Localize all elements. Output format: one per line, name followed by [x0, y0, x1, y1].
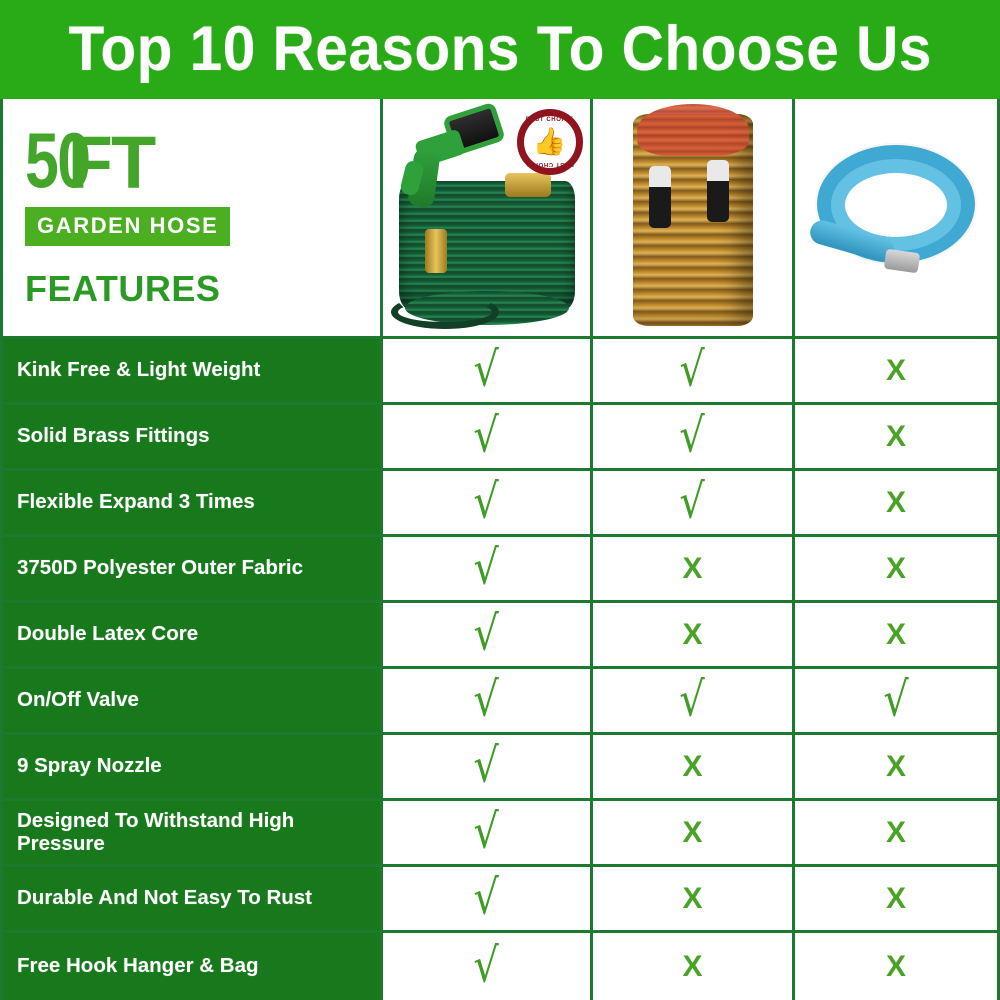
brown-expandable-hose-image — [633, 108, 753, 328]
check-icon: √ — [680, 411, 705, 459]
check-icon: √ — [680, 477, 705, 525]
green-hose-tail — [391, 295, 499, 329]
page-title: Top 10 Reasons To Choose Us — [68, 18, 931, 81]
features-heading: FEATURES — [25, 268, 380, 310]
feature-label: On/Off Valve — [3, 669, 383, 732]
feature-label: Flexible Expand 3 Times — [3, 471, 383, 534]
check-icon: √ — [680, 345, 705, 393]
mark-cell: √ — [383, 603, 593, 666]
mark-cell: √ — [383, 801, 593, 864]
feature-label: 9 Spray Nozzle — [3, 735, 383, 798]
header-banner: Top 10 Reasons To Choose Us — [0, 0, 1000, 99]
mark-cell: √ — [383, 669, 593, 732]
brown-hose-fitting-left — [649, 166, 671, 228]
cross-icon: X — [682, 884, 702, 914]
mark-cell: √ — [383, 933, 593, 1000]
table-row: On/Off Valve√√√ — [3, 669, 997, 735]
mark-cell: √ — [383, 405, 593, 468]
feature-label: Designed To Withstand High Pressure — [3, 801, 383, 864]
brown-hose-fitting-right — [707, 160, 729, 222]
mark-cell: X — [795, 405, 997, 468]
cross-icon: X — [682, 554, 702, 584]
cross-icon: X — [682, 952, 702, 982]
mark-cell: X — [593, 933, 795, 1000]
mark-cell: √ — [593, 471, 795, 534]
product-cell-blue-hose — [795, 99, 997, 336]
table-row: Solid Brass Fittings√√X — [3, 405, 997, 471]
badge-top-text: BEST CHOICE — [524, 117, 576, 123]
mark-cell: √ — [593, 669, 795, 732]
cross-icon: X — [886, 884, 906, 914]
cross-icon: X — [682, 620, 702, 650]
mark-cell: √ — [383, 471, 593, 534]
mark-cell: √ — [383, 537, 593, 600]
spray-nozzle-icon — [401, 109, 505, 213]
table-row: Free Hook Hanger & Bag√XX — [3, 933, 997, 1000]
brass-fitting-icon — [425, 229, 447, 273]
size-lockup: 50 FT — [25, 125, 380, 197]
check-icon: √ — [474, 345, 499, 393]
mark-cell: X — [795, 867, 997, 930]
mark-cell: X — [593, 801, 795, 864]
mark-cell: √ — [383, 867, 593, 930]
size-number: 50 — [25, 125, 90, 197]
comparison-infographic: Top 10 Reasons To Choose Us 50 FT GARDEN… — [0, 0, 1000, 1000]
cross-icon: X — [886, 488, 906, 518]
cross-icon: X — [886, 620, 906, 650]
table-row: Designed To Withstand High Pressure√XX — [3, 801, 997, 867]
mark-cell: X — [593, 603, 795, 666]
mark-cell: √ — [593, 405, 795, 468]
best-choice-badge: BEST CHOICE 👍 BEST CHOICE — [517, 109, 583, 175]
cross-icon: X — [682, 818, 702, 848]
check-icon: √ — [474, 807, 499, 855]
feature-label: Kink Free & Light Weight — [3, 339, 383, 402]
check-icon: √ — [680, 675, 705, 723]
mark-cell: X — [593, 735, 795, 798]
mark-cell: √ — [383, 339, 593, 402]
mark-cell: X — [593, 537, 795, 600]
mark-cell: √ — [593, 339, 795, 402]
brown-hose-top — [637, 104, 749, 156]
feature-rows: Kink Free & Light Weight√√XSolid Brass F… — [3, 339, 997, 1000]
mark-cell: X — [795, 933, 997, 1000]
thumbs-up-icon: 👍 — [533, 128, 567, 155]
mark-cell: √ — [383, 735, 593, 798]
mark-cell: X — [795, 735, 997, 798]
check-icon: √ — [883, 675, 908, 723]
badge-inner: BEST CHOICE 👍 BEST CHOICE — [524, 116, 576, 168]
product-cell-brown-hose — [593, 99, 795, 336]
check-icon: √ — [474, 609, 499, 657]
cross-icon: X — [886, 952, 906, 982]
check-icon: √ — [474, 411, 499, 459]
check-icon: √ — [474, 675, 499, 723]
feature-label: Solid Brass Fittings — [3, 405, 383, 468]
table-row: 9 Spray Nozzle√XX — [3, 735, 997, 801]
comparison-table: 50 FT GARDEN HOSE FEATURES — [0, 99, 1000, 1000]
check-icon: √ — [474, 941, 499, 989]
table-row: Double Latex Core√XX — [3, 603, 997, 669]
brass-connector-icon — [505, 173, 551, 197]
cross-icon: X — [886, 554, 906, 584]
check-icon: √ — [474, 543, 499, 591]
feature-label: Free Hook Hanger & Bag — [3, 933, 383, 1000]
green-expandable-hose-image: BEST CHOICE 👍 BEST CHOICE — [387, 103, 587, 333]
badge-bottom-text: BEST CHOICE — [524, 161, 576, 167]
feature-label: 3750D Polyester Outer Fabric — [3, 537, 383, 600]
mark-cell: X — [593, 867, 795, 930]
blue-hose-connector — [884, 248, 920, 273]
feature-label: Durable And Not Easy To Rust — [3, 867, 383, 930]
mark-cell: √ — [795, 669, 997, 732]
table-row: Kink Free & Light Weight√√X — [3, 339, 997, 405]
table-row: 3750D Polyester Outer Fabric√XX — [3, 537, 997, 603]
mark-cell: X — [795, 471, 997, 534]
mark-cell: X — [795, 603, 997, 666]
mark-cell: X — [795, 801, 997, 864]
product-header-row: 50 FT GARDEN HOSE FEATURES — [3, 99, 997, 339]
product-cell-green-hose: BEST CHOICE 👍 BEST CHOICE — [383, 99, 593, 336]
check-icon: √ — [474, 873, 499, 921]
cross-icon: X — [886, 356, 906, 386]
blue-coiled-hose-image — [801, 133, 991, 303]
product-type-badge: GARDEN HOSE — [25, 207, 230, 246]
check-icon: √ — [474, 741, 499, 789]
brand-cell: 50 FT GARDEN HOSE FEATURES — [3, 99, 383, 336]
mark-cell: X — [795, 537, 997, 600]
mark-cell: X — [795, 339, 997, 402]
table-row: Flexible Expand 3 Times√√X — [3, 471, 997, 537]
cross-icon: X — [886, 818, 906, 848]
cross-icon: X — [886, 422, 906, 452]
cross-icon: X — [682, 752, 702, 782]
check-icon: √ — [474, 477, 499, 525]
cross-icon: X — [886, 752, 906, 782]
feature-label: Double Latex Core — [3, 603, 383, 666]
table-row: Durable And Not Easy To Rust√XX — [3, 867, 997, 933]
